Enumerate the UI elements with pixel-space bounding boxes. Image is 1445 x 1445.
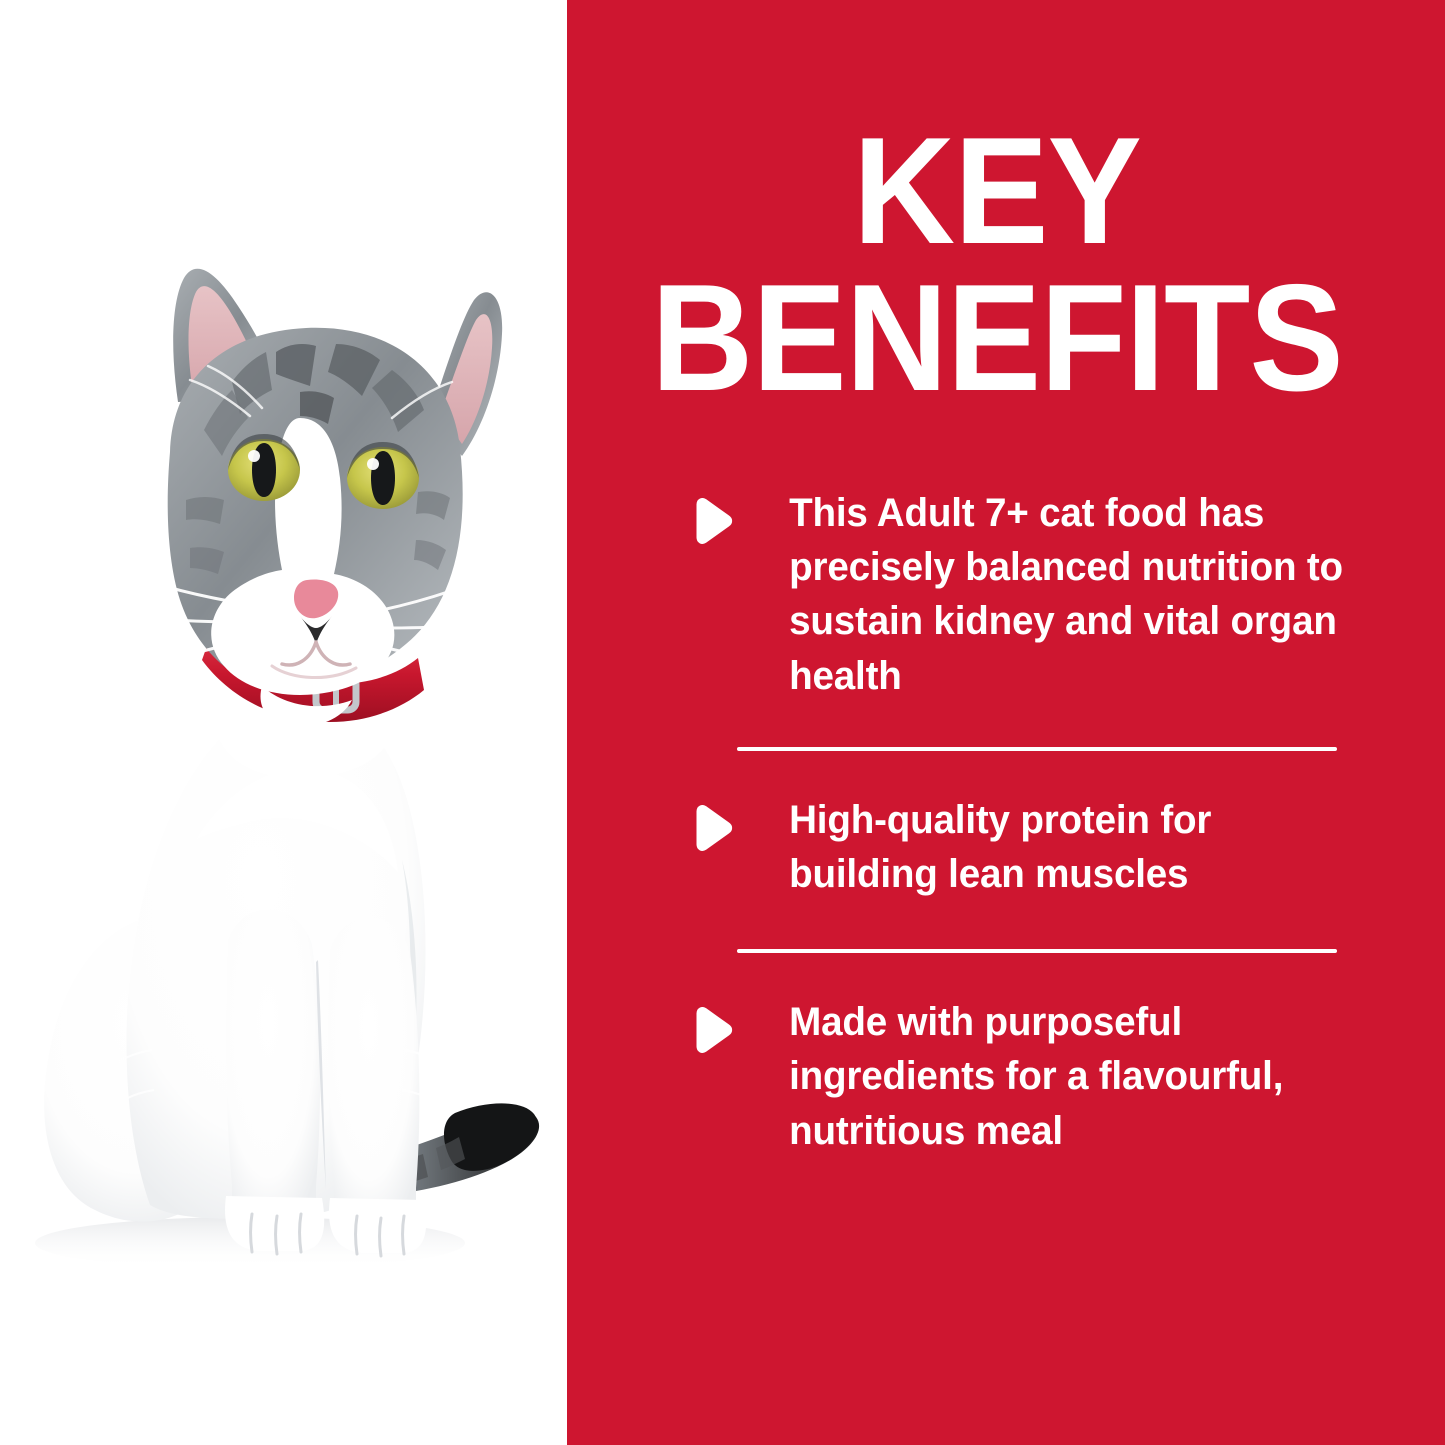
cat-photo xyxy=(0,0,567,1445)
benefits-pane: KEY BENEFITS This Adult 7+ cat food has … xyxy=(567,0,1445,1445)
benefit-text-3: Made with purposeful ingredients for a f… xyxy=(737,995,1360,1158)
play-triangle-icon xyxy=(691,995,737,1053)
benefit-list: This Adult 7+ cat food has precisely bal… xyxy=(691,486,1391,1158)
benefit-item-2: High-quality protein for building lean m… xyxy=(691,793,1391,901)
product-image-pane xyxy=(0,0,567,1445)
benefit-text-1: This Adult 7+ cat food has precisely bal… xyxy=(737,486,1360,703)
play-triangle-icon xyxy=(691,486,737,544)
page-title-line-1: KEY xyxy=(597,118,1397,265)
page-title-line-2: BENEFITS xyxy=(597,265,1397,412)
key-benefits-panel: KEY BENEFITS This Adult 7+ cat food has … xyxy=(0,0,1445,1445)
benefit-text-2: High-quality protein for building lean m… xyxy=(737,793,1360,901)
play-triangle-icon xyxy=(691,793,737,851)
benefit-item-3: Made with purposeful ingredients for a f… xyxy=(691,995,1391,1158)
benefit-item-1: This Adult 7+ cat food has precisely bal… xyxy=(691,486,1391,703)
page-title: KEY BENEFITS xyxy=(567,118,1427,413)
